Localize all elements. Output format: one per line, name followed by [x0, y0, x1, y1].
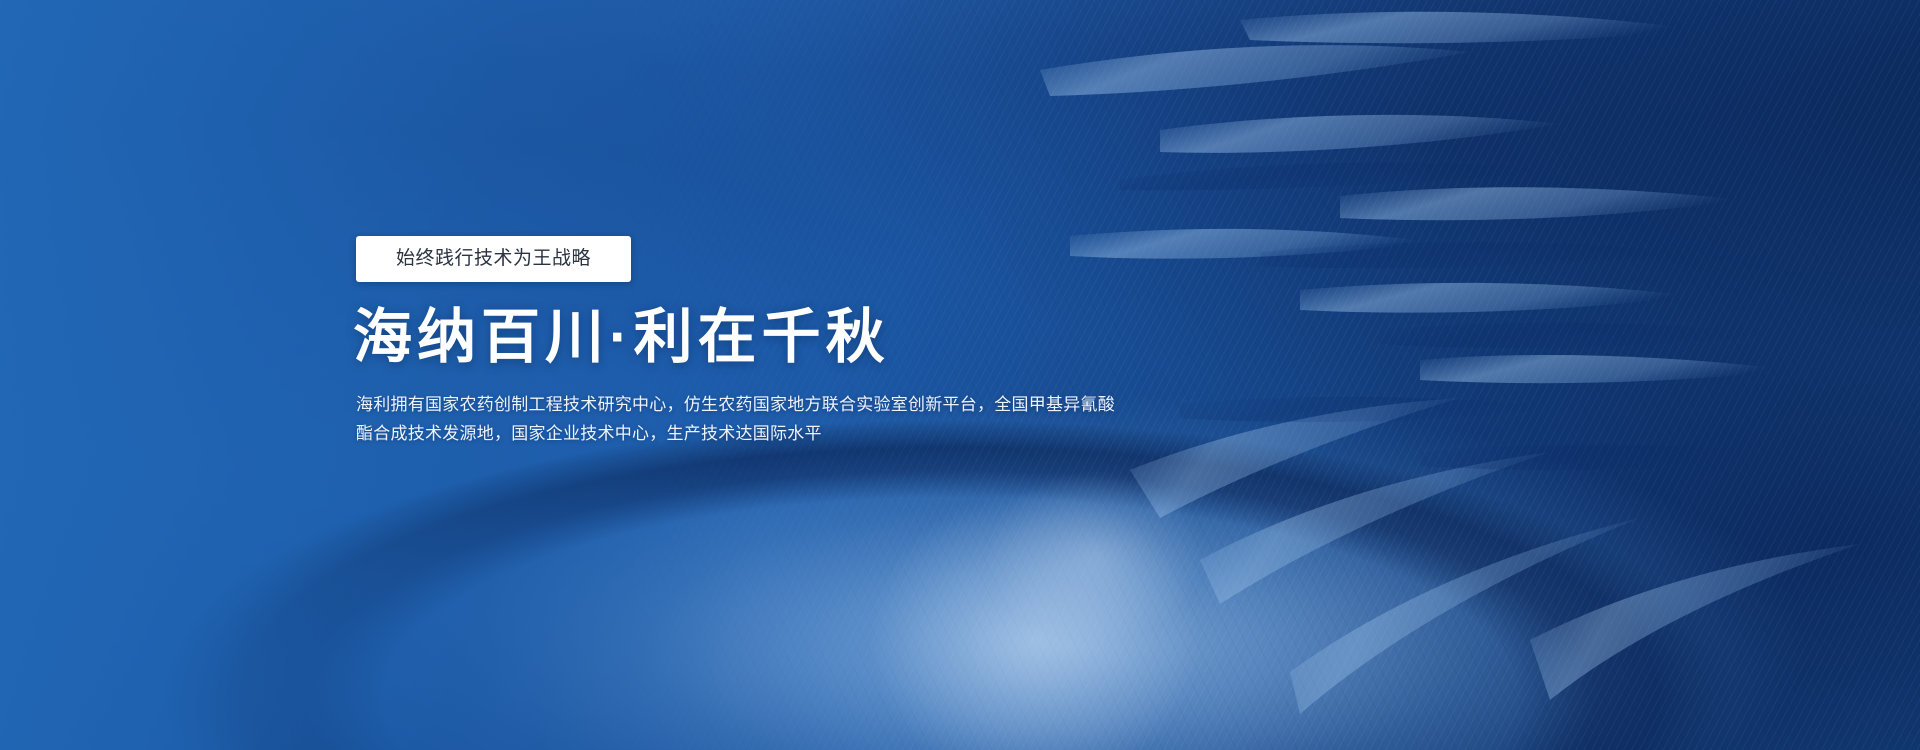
hero-description-line-2: 酯合成技术发源地，国家企业技术中心，生产技术达国际水平: [356, 419, 1196, 448]
hero-description-line-1: 海利拥有国家农药创制工程技术研究中心，仿生农药国家地方联合实验室创新平台，全国甲…: [356, 390, 1196, 419]
hero-badge: 始终践行技术为王战略: [356, 236, 631, 282]
hero-content: 始终践行技术为王战略 海纳百川·利在千秋 海利拥有国家农药创制工程技术研究中心，…: [356, 236, 1356, 448]
hero-headline: 海纳百川·利在千秋: [353, 306, 1356, 370]
hero-banner: 始终践行技术为王战略 海纳百川·利在千秋 海利拥有国家农药创制工程技术研究中心，…: [0, 0, 1920, 750]
hero-description: 海利拥有国家农药创制工程技术研究中心，仿生农药国家地方联合实验室创新平台，全国甲…: [356, 390, 1196, 448]
